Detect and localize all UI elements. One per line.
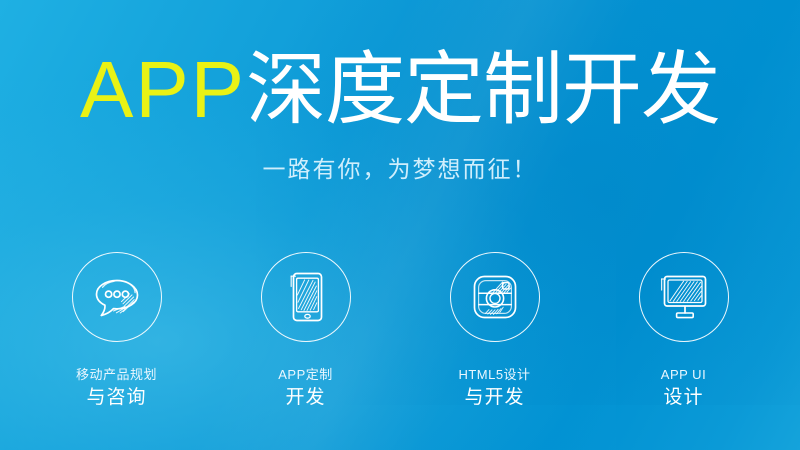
headline-rest: 深度定制开发 [246, 45, 720, 134]
feature-caption-line2: 与咨询 [76, 385, 157, 411]
feature-caption-line1: HTML5设计 [458, 366, 530, 384]
tablet-device-icon [282, 268, 330, 326]
feature-item-consulting[interactable]: 移动产品规划 与咨询 [71, 252, 163, 410]
feature-caption-line2: 设计 [661, 385, 706, 411]
feature-caption: HTML5设计 与开发 [458, 366, 530, 410]
promo-banner: APP深度定制开发 一路有你，为梦想而征！ [0, 0, 800, 450]
feature-caption-line2: 开发 [278, 385, 333, 411]
icon-circle [261, 252, 351, 342]
feature-item-app-ui-design[interactable]: APP UI 设计 [638, 252, 730, 410]
page-title: APP深度定制开发 [0, 49, 800, 131]
desktop-monitor-icon [655, 270, 713, 324]
feature-caption-line2: 与开发 [458, 385, 530, 411]
icon-circle [450, 252, 540, 342]
feature-caption-line1: APP定制 [278, 366, 333, 384]
feature-caption: APP定制 开发 [278, 366, 333, 410]
page-subtitle: 一路有你，为梦想而征！ [0, 150, 800, 184]
camera-icon [467, 269, 523, 325]
feature-caption: 移动产品规划 与咨询 [76, 366, 157, 410]
feature-caption-line1: 移动产品规划 [76, 366, 157, 384]
headline-lead: APP [80, 45, 246, 134]
speech-bubble-dots-icon [89, 271, 145, 323]
feature-item-html5-design[interactable]: HTML5设计 与开发 [449, 252, 541, 410]
icon-circle [72, 252, 162, 342]
banner-content: APP深度定制开发 一路有你，为梦想而征！ [0, 0, 800, 450]
feature-caption-line1: APP UI [661, 366, 706, 384]
feature-list: 移动产品规划 与咨询 [0, 252, 800, 410]
icon-circle [639, 252, 729, 342]
feature-item-app-development[interactable]: APP定制 开发 [260, 252, 352, 410]
feature-caption: APP UI 设计 [661, 366, 706, 410]
